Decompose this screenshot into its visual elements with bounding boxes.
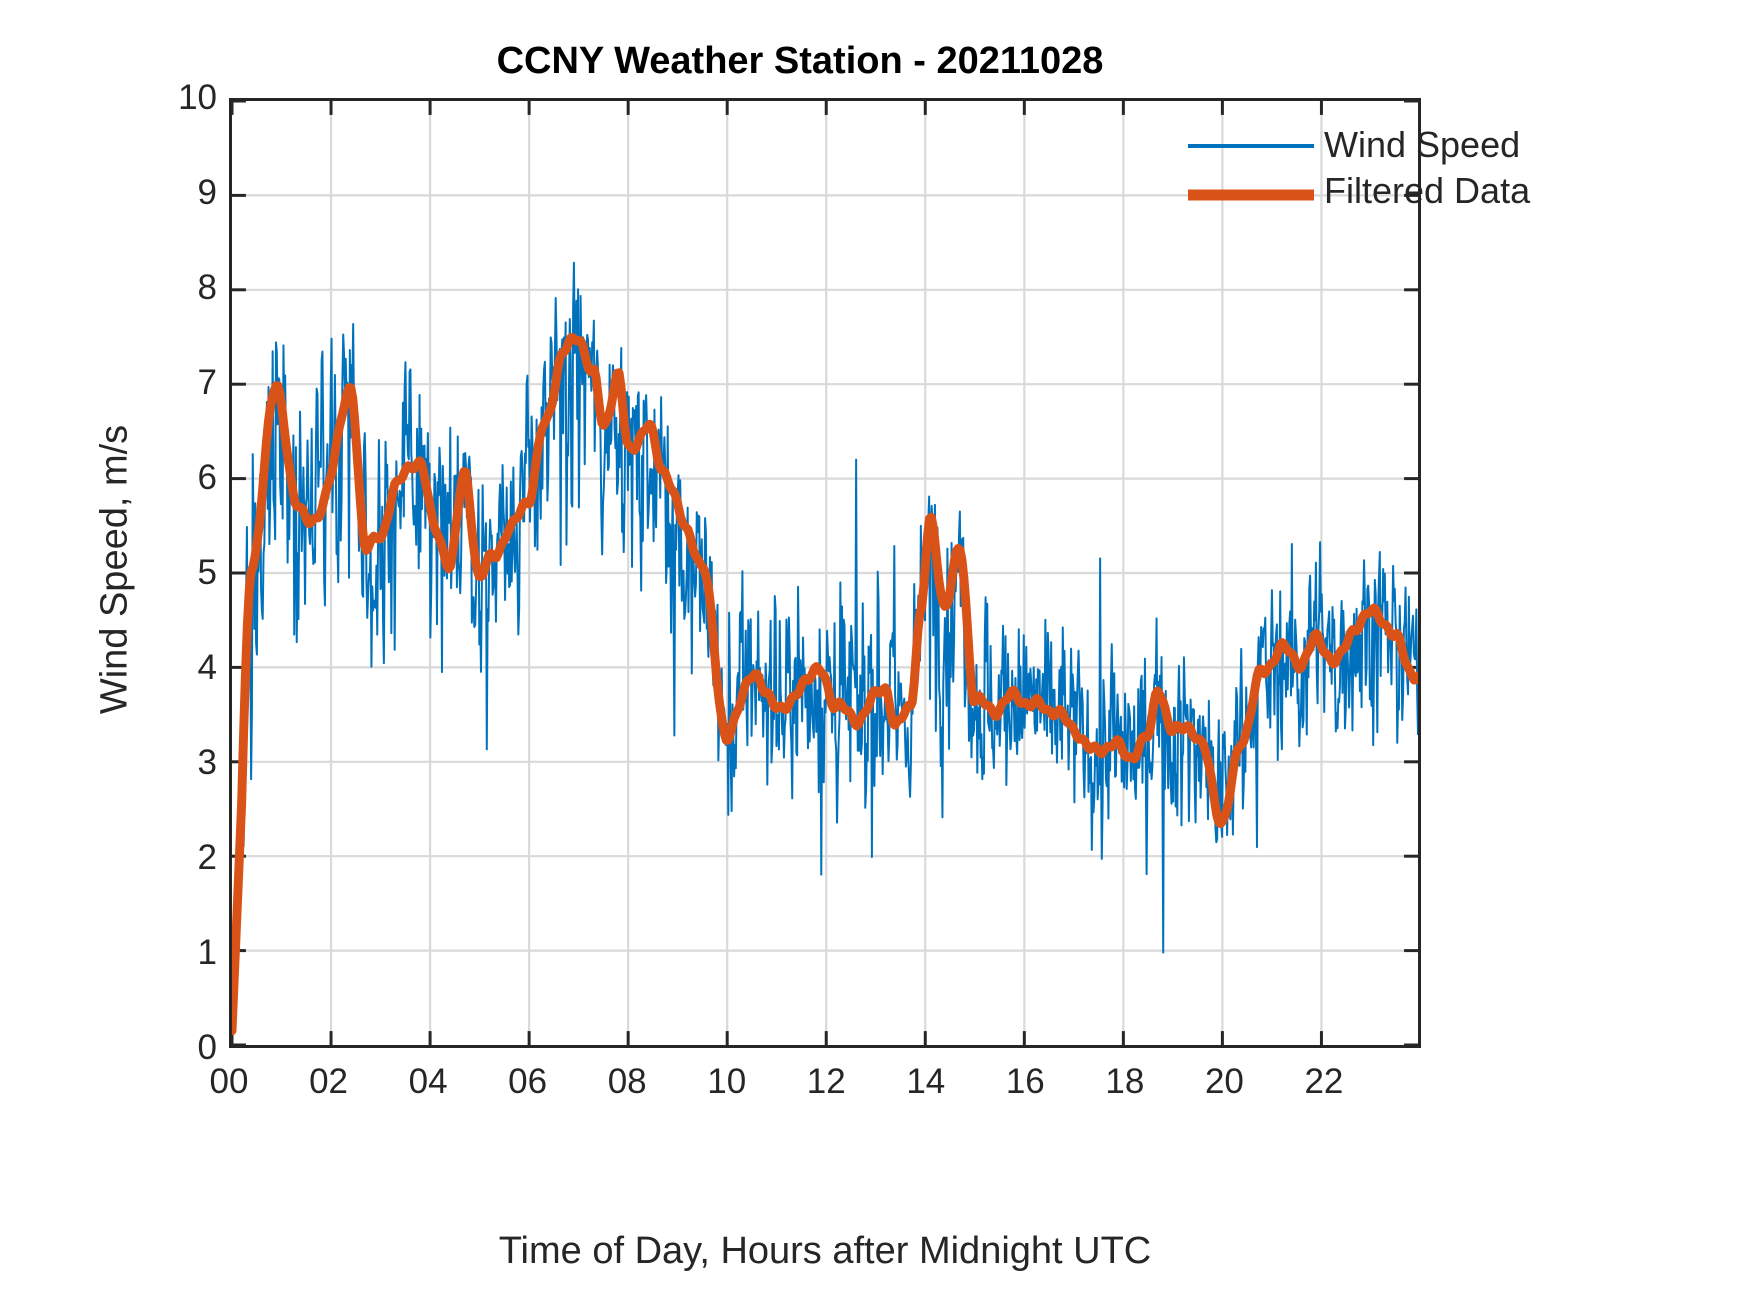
x-tick-label: 10 (682, 1062, 772, 1102)
x-tick-label: 04 (383, 1062, 473, 1102)
legend-item-wind-speed: Wind Speed (1188, 122, 1428, 168)
y-tick-label: 5 (157, 553, 217, 593)
legend-item-filtered-data: Filtered Data (1188, 168, 1428, 214)
x-tick-label: 00 (184, 1062, 274, 1102)
y-axis-title: Wind Speed, m/s (94, 95, 137, 1045)
x-axis-tick-labels: 000204060810121416182022 (229, 1062, 1421, 1112)
legend: Wind Speed Filtered Data (1188, 122, 1428, 214)
y-tick-label: 8 (157, 268, 217, 308)
page-title: CCNY Weather Station - 20211028 (0, 40, 1600, 83)
x-tick-label: 18 (1080, 1062, 1170, 1102)
x-tick-label: 20 (1179, 1062, 1269, 1102)
y-tick-label: 6 (157, 458, 217, 498)
x-tick-label: 16 (980, 1062, 1070, 1102)
y-tick-label: 9 (157, 173, 217, 213)
y-tick-label: 10 (157, 78, 217, 118)
y-tick-label: 2 (157, 838, 217, 878)
x-tick-label: 14 (881, 1062, 971, 1102)
y-tick-label: 3 (157, 743, 217, 783)
x-tick-label: 08 (582, 1062, 672, 1102)
legend-label-filtered-data: Filtered Data (1324, 168, 1530, 214)
x-tick-label: 06 (483, 1062, 573, 1102)
legend-swatch-filtered-data (1188, 189, 1314, 201)
y-tick-label: 4 (157, 648, 217, 688)
plot-area (229, 98, 1421, 1048)
y-tick-label: 7 (157, 363, 217, 403)
legend-label-wind-speed: Wind Speed (1324, 122, 1520, 168)
figure-canvas: CCNY Weather Station - 20211028 10987654… (0, 0, 1750, 1313)
data-series-layer (232, 101, 1418, 1045)
y-axis-tick-labels: 109876543210 (155, 98, 217, 1048)
x-tick-label: 12 (781, 1062, 871, 1102)
x-tick-label: 22 (1279, 1062, 1369, 1102)
x-axis-title: Time of Day, Hours after Midnight UTC (229, 1230, 1421, 1273)
legend-swatch-wind-speed (1188, 143, 1314, 149)
y-tick-label: 1 (157, 933, 217, 973)
series-wind-speed (232, 263, 1418, 1031)
x-tick-label: 02 (284, 1062, 374, 1102)
